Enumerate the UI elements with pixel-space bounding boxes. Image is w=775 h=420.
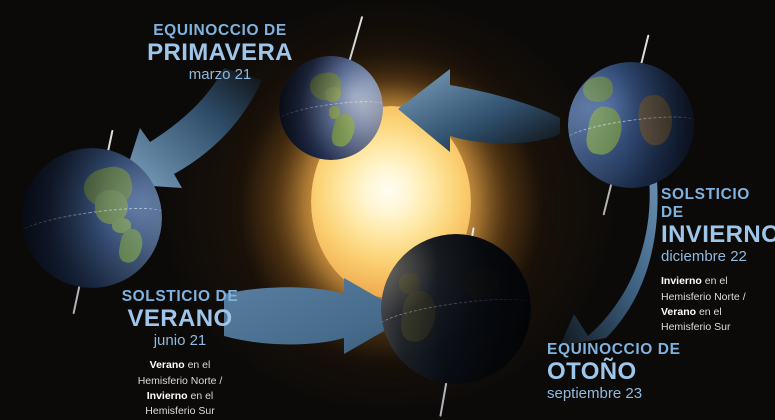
winter-note-line-4: Hemisferio Sur: [661, 321, 730, 333]
summer-note-rest-1: en el: [185, 359, 211, 371]
label-autumn-equinox: EQUINOCCIO DE OTOÑO septiembre 23: [547, 341, 757, 402]
summer-note-rest-3: en el: [188, 390, 214, 402]
label-winter-solstice: SOLSTICIO DE INVIERNO diciembre 22 Invie…: [661, 186, 775, 335]
winter-title: INVIERNO: [661, 222, 775, 247]
globe-autumn: [381, 234, 531, 384]
summer-note-bold-3: Invierno: [147, 390, 188, 402]
winter-date: diciembre 22: [661, 248, 775, 265]
autumn-date: septiembre 23: [547, 385, 757, 402]
summer-note-line-4: Hemisferio Sur: [145, 405, 214, 417]
winter-note-rest-3: en el: [696, 306, 722, 318]
summer-kicker: SOLSTICIO DE: [92, 288, 268, 306]
globe-summer: [22, 148, 162, 288]
spring-kicker: EQUINOCCIO DE: [125, 22, 315, 40]
winter-note-line-2: Hemisferio Norte /: [661, 291, 746, 303]
autumn-kicker: EQUINOCCIO DE: [547, 341, 757, 359]
summer-note-bold-1: Verano: [150, 359, 185, 371]
summer-title: VERANO: [92, 306, 268, 331]
summer-note-line-2: Hemisferio Norte /: [138, 375, 223, 387]
label-summer-solstice: SOLSTICIO DE VERANO junio 21 Verano en e…: [92, 288, 268, 419]
arrow-to-spring: [392, 52, 568, 164]
summer-note: Verano en el Hemisferio Norte / Invierno…: [92, 358, 268, 419]
label-spring-equinox: EQUINOCCIO DE PRIMAVERA marzo 21: [125, 22, 315, 83]
winter-note: Invierno en el Hemisferio Norte / Verano…: [661, 274, 775, 335]
winter-note-rest-1: en el: [702, 275, 728, 287]
spring-date: marzo 21: [125, 66, 315, 83]
winter-note-bold-1: Invierno: [661, 275, 702, 287]
autumn-title: OTOÑO: [547, 359, 757, 384]
earth-seasons-diagram: EQUINOCCIO DE PRIMAVERA marzo 21 SOLSTIC…: [0, 0, 775, 420]
summer-date: junio 21: [92, 332, 268, 349]
globe-winter: [568, 62, 694, 188]
winter-kicker: SOLSTICIO DE: [661, 186, 775, 222]
winter-note-bold-3: Verano: [661, 306, 696, 318]
spring-title: PRIMAVERA: [125, 40, 315, 65]
arrow-to-winter: [530, 168, 660, 346]
